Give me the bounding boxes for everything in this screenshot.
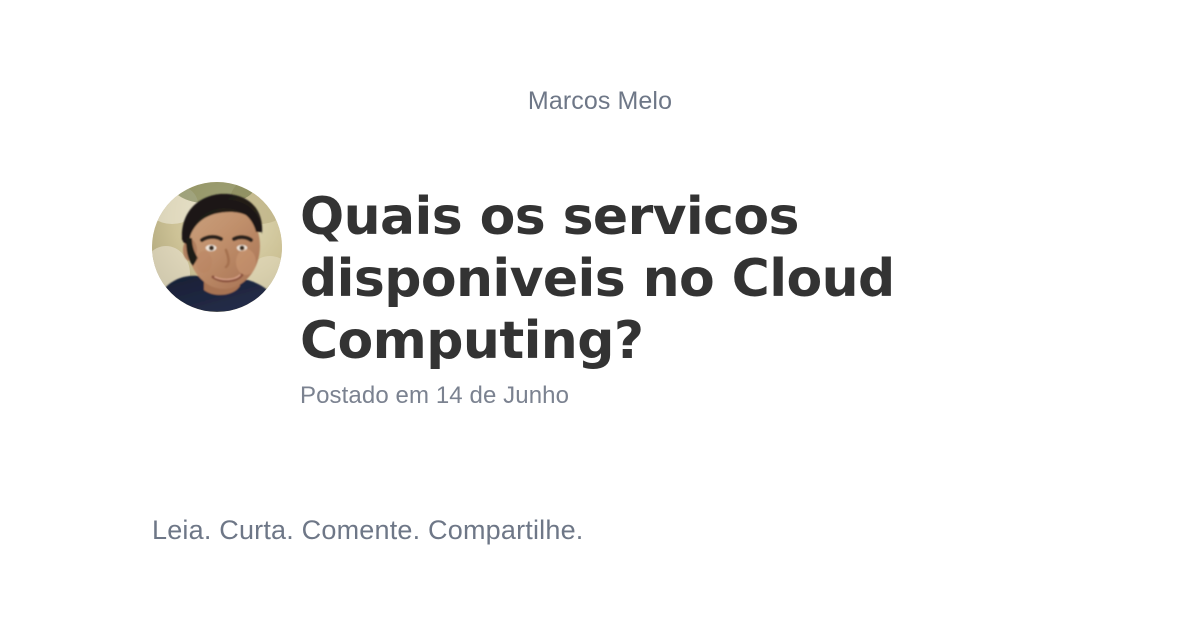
footer-tagline: Leia. Curta. Comente. Compartilhe. bbox=[152, 512, 584, 548]
post-date: Postado em 14 de Junho bbox=[300, 381, 1152, 411]
post-text-block: Quais os servicos disponiveis no Cloud C… bbox=[300, 182, 1152, 411]
post-header: Quais os servicos disponiveis no Cloud C… bbox=[152, 182, 1152, 411]
post-title: Quais os servicos disponiveis no Cloud C… bbox=[300, 186, 1000, 372]
author-avatar-photo-icon bbox=[152, 182, 282, 312]
social-share-card: Marcos Melo bbox=[0, 0, 1200, 627]
avatar bbox=[152, 182, 282, 312]
author-name: Marcos Melo bbox=[0, 84, 1200, 118]
